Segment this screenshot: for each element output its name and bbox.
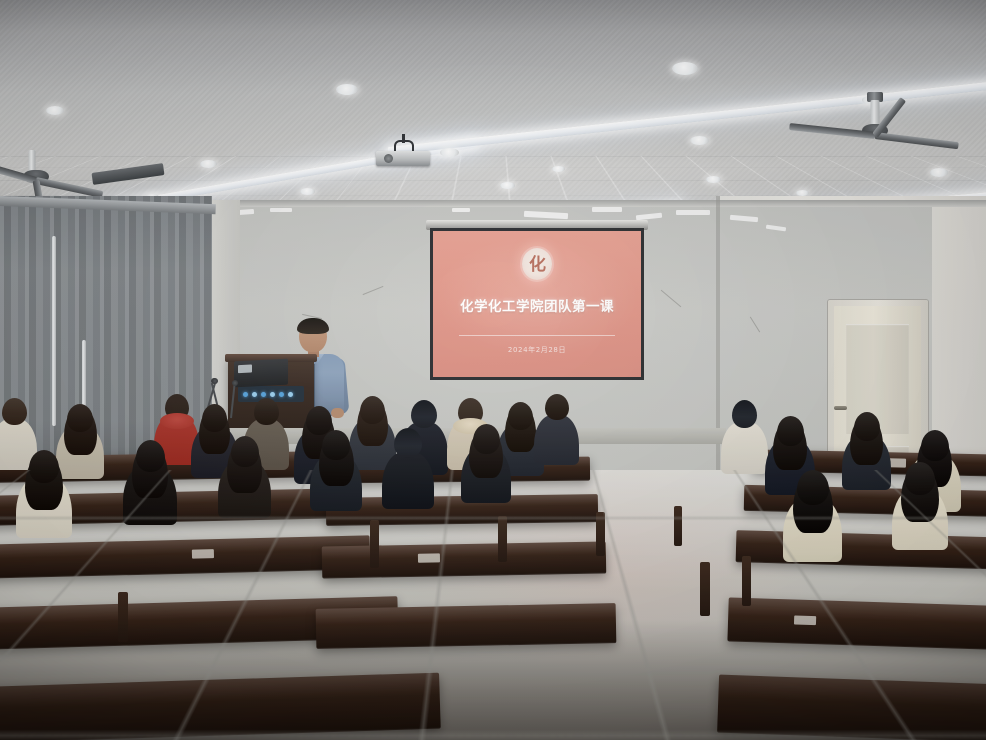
bench-desk bbox=[727, 597, 986, 650]
bench-desk bbox=[316, 603, 617, 649]
bench-tag bbox=[418, 553, 440, 562]
student bbox=[842, 412, 891, 491]
seat-back bbox=[498, 516, 507, 562]
student-head bbox=[136, 440, 165, 472]
screen-frame: 化 化学化工学院团队第一课 2024年2月28日 bbox=[430, 228, 644, 380]
student bbox=[310, 430, 362, 513]
fan-blade bbox=[875, 132, 959, 149]
fan-downrod bbox=[29, 150, 36, 172]
ceiling-fan bbox=[790, 92, 960, 162]
student bbox=[461, 424, 511, 505]
bench-desk bbox=[322, 542, 607, 579]
student bbox=[721, 400, 768, 476]
seat-back bbox=[118, 592, 128, 642]
presentation-slide: 化 化学化工学院团队第一课 2024年2月28日 bbox=[433, 231, 641, 377]
recessed-downlight bbox=[336, 84, 358, 95]
student bbox=[783, 470, 842, 565]
recessed-downlight bbox=[46, 106, 64, 115]
seat-back bbox=[370, 520, 379, 568]
student-head bbox=[322, 430, 350, 460]
laptop-screen bbox=[238, 364, 252, 373]
student-head bbox=[732, 400, 757, 428]
student bbox=[382, 428, 434, 511]
student-head bbox=[202, 404, 227, 432]
bench-desk bbox=[717, 675, 986, 740]
student-head bbox=[67, 404, 93, 432]
bench-desk bbox=[736, 530, 986, 570]
slide-title: 化学化工学院团队第一课 bbox=[433, 295, 641, 315]
slide-date: 2024年2月28日 bbox=[433, 345, 641, 355]
student-head bbox=[473, 424, 500, 454]
student-head bbox=[254, 398, 279, 425]
student-head bbox=[394, 428, 422, 458]
seat-back bbox=[674, 506, 682, 546]
presenter-hair bbox=[297, 318, 329, 334]
recessed-downlight bbox=[690, 136, 709, 145]
audience-seating bbox=[0, 380, 986, 740]
recessed-downlight bbox=[552, 166, 565, 172]
student-head bbox=[905, 462, 935, 495]
wall-top-trim bbox=[206, 200, 986, 207]
student bbox=[218, 436, 271, 521]
student-head bbox=[545, 394, 569, 420]
recessed-downlight bbox=[300, 188, 315, 195]
student bbox=[892, 462, 948, 552]
student-head bbox=[854, 412, 880, 441]
student-head bbox=[411, 400, 437, 428]
recessed-downlight bbox=[930, 168, 948, 177]
emblem-mark: 化 bbox=[529, 256, 545, 273]
seat-back bbox=[742, 556, 751, 606]
student-head bbox=[2, 398, 27, 425]
coat-hood bbox=[160, 413, 194, 429]
student bbox=[534, 394, 579, 466]
slide-divider bbox=[459, 335, 615, 336]
student-head bbox=[777, 416, 804, 446]
recessed-downlight bbox=[500, 182, 515, 189]
bench-tag bbox=[794, 615, 816, 625]
fan-blade bbox=[789, 123, 875, 139]
recessed-downlight bbox=[440, 148, 459, 157]
student-head bbox=[231, 436, 259, 467]
student-head bbox=[921, 430, 949, 461]
projection-screen: 化 化学化工学院团队第一课 2024年2月28日 bbox=[430, 228, 644, 388]
student-coat bbox=[534, 415, 579, 465]
student-coat bbox=[382, 452, 434, 509]
student-head bbox=[360, 396, 385, 424]
lecture-hall-photo: 化 化学化工学院团队第一课 2024年2月28日 bbox=[0, 0, 986, 740]
seat-back bbox=[596, 512, 605, 556]
seat-back bbox=[700, 562, 710, 616]
student bbox=[16, 450, 72, 540]
student-head bbox=[508, 402, 533, 430]
recessed-downlight bbox=[200, 160, 217, 168]
bench-desk bbox=[0, 535, 370, 578]
student-coat bbox=[721, 422, 768, 474]
university-emblem-icon: 化 bbox=[522, 248, 552, 280]
student bbox=[123, 440, 177, 526]
fan-downrod bbox=[871, 100, 880, 126]
bench-desk bbox=[0, 673, 441, 740]
bench-tag bbox=[192, 549, 214, 559]
projector-lens bbox=[384, 154, 393, 163]
student-head bbox=[797, 470, 829, 505]
recessed-downlight bbox=[706, 176, 721, 183]
ceiling-projector bbox=[376, 140, 430, 166]
recessed-downlight bbox=[672, 62, 698, 75]
student-head bbox=[29, 450, 59, 483]
